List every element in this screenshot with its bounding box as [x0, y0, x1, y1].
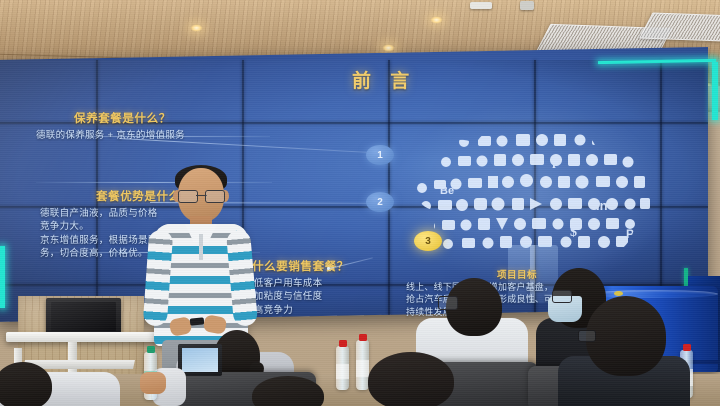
slide-number-circle-2[interactable]: 2	[366, 192, 394, 212]
attendee-bottom-right-head	[368, 352, 454, 406]
slide-block-3-heading: 为什么要销售套餐？	[240, 258, 349, 274]
attendee-hand	[140, 372, 166, 394]
led-accent-strip-left	[0, 246, 5, 308]
hvac-vent	[639, 13, 720, 42]
svg-text:Be: Be	[440, 185, 454, 197]
svg-text:$: $	[570, 225, 577, 240]
attendee-man-foreground-head	[586, 296, 666, 376]
slide-block-3-body-line-1: 降低客户用车成本	[244, 277, 349, 290]
attendee-laptop-screen	[182, 348, 218, 372]
ceiling-downlight	[430, 16, 443, 24]
eyeglasses-icon	[552, 290, 572, 303]
slide-block-1-heading: 保养套餐是什么？	[74, 110, 185, 126]
presenter-remote[interactable]	[190, 317, 205, 325]
svg-text:f: f	[552, 156, 557, 171]
drum-rim	[592, 290, 718, 298]
svg-text:in: in	[596, 198, 608, 213]
led-accent-strip-right	[712, 62, 718, 120]
goal-heading: 项目目标	[497, 267, 537, 281]
svg-text:P: P	[626, 227, 634, 241]
presentation-room-photo: 前 言	[0, 0, 720, 406]
ceiling-sensor	[470, 2, 492, 9]
eyeglasses-icon	[438, 296, 458, 310]
slide-number-circle-1[interactable]: 1	[366, 145, 394, 165]
slide-block-3-body-line-2: 增加粘度与信任度	[244, 290, 349, 303]
ceiling-speaker	[520, 1, 534, 10]
ceiling-downlight	[382, 44, 395, 52]
divider-line-1	[34, 136, 270, 137]
ceiling-downlight	[190, 24, 203, 32]
eyeglasses-icon	[178, 190, 225, 201]
lectern-top-surface	[6, 332, 166, 342]
slide-block-3-body-line-3: 提高竞争力	[244, 304, 349, 317]
water-bottle	[336, 346, 349, 390]
slide-number-circle-3[interactable]: 3	[414, 231, 442, 251]
shirt-placket	[199, 234, 203, 260]
slide-title: 前 言	[352, 66, 416, 93]
presenter-laptop[interactable]	[46, 298, 121, 334]
eyeglasses-icon	[578, 330, 596, 342]
